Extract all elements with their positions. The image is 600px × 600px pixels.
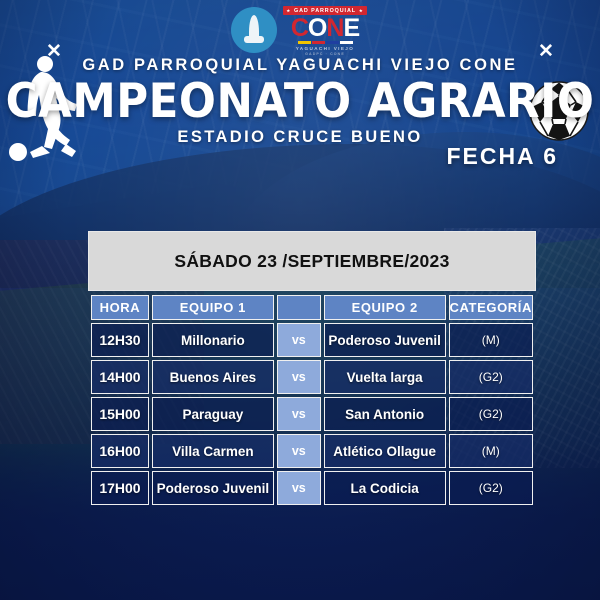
cell-categoria: (G2)	[449, 360, 533, 394]
date-banner: SÁBADO 23 /SEPTIEMBRE/2023	[88, 231, 536, 291]
cell-categoria: (G2)	[449, 471, 533, 505]
cell-vs: vs	[277, 434, 321, 468]
table-row: 17H00 Poderoso Juvenil vs La Codicia (G2…	[91, 471, 533, 505]
cell-categoria: (M)	[449, 323, 533, 357]
poster-header: GAD PARROQUIAL YAGUACHI VIEJO CONE CAMPE…	[0, 56, 600, 147]
table-row: 14H00 Buenos Aires vs Vuelta larga (G2)	[91, 360, 533, 394]
logo-subtitle-secondary: GADPC · CONE	[277, 52, 373, 56]
cell-equipo-1: Poderoso Juvenil	[152, 471, 274, 505]
logo-subtitle: YAGUACHI VIEJO	[277, 46, 373, 51]
column-header-equipo-1: EQUIPO 1	[152, 295, 274, 320]
cell-vs: vs	[277, 360, 321, 394]
fixtures-panel: SÁBADO 23 /SEPTIEMBRE/2023 HORA EQUIPO 1…	[88, 231, 536, 508]
column-header-hora: HORA	[91, 295, 149, 320]
table-row: 15H00 Paraguay vs San Antonio (G2)	[91, 397, 533, 431]
logo-bar-white	[340, 41, 353, 44]
fixture-poster: ★ GAD PARROQUIAL ★ CONE YAGUACHI VIEJO G…	[0, 0, 600, 600]
round-label: FECHA 6	[446, 143, 558, 170]
cell-hora: 15H00	[91, 397, 149, 431]
cell-categoria: (G2)	[449, 397, 533, 431]
logo-bar-blue	[326, 41, 339, 44]
logo-wordmark: CONE	[277, 16, 373, 40]
cell-equipo-1: Buenos Aires	[152, 360, 274, 394]
cell-hora: 14H00	[91, 360, 149, 394]
column-header-vs	[277, 295, 321, 320]
table-header-row: HORA EQUIPO 1 EQUIPO 2 CATEGORÍA	[91, 295, 533, 320]
cell-equipo-2: Vuelta larga	[324, 360, 446, 394]
table-row: 16H00 Villa Carmen vs Atlético Ollague (…	[91, 434, 533, 468]
table-row: 12H30 Millonario vs Poderoso Juvenil (M)	[91, 323, 533, 357]
cell-hora: 17H00	[91, 471, 149, 505]
logo-letter-c: C	[291, 14, 308, 42]
logo-letter-n: N	[326, 14, 343, 42]
logo-wordmark-group: ★ GAD PARROQUIAL ★ CONE YAGUACHI VIEJO G…	[277, 6, 373, 56]
cell-equipo-2: San Antonio	[324, 397, 446, 431]
cell-equipo-2: Atlético Ollague	[324, 434, 446, 468]
logo-top-banner-label: GAD PARROQUIAL	[294, 8, 356, 14]
cell-hora: 12H30	[91, 323, 149, 357]
cell-hora: 16H00	[91, 434, 149, 468]
fixtures-table: HORA EQUIPO 1 EQUIPO 2 CATEGORÍA 12H30 M…	[88, 292, 536, 508]
tower-monument-icon	[249, 15, 259, 43]
logo-letter-o: O	[308, 14, 326, 42]
cell-categoria: (M)	[449, 434, 533, 468]
logo-bar-red	[312, 41, 325, 44]
fixtures-table-body: 12H30 Millonario vs Poderoso Juvenil (M)…	[91, 323, 533, 505]
header-kicker: GAD PARROQUIAL YAGUACHI VIEJO CONE	[0, 56, 600, 75]
cone-logo: ★ GAD PARROQUIAL ★ CONE YAGUACHI VIEJO G…	[225, 4, 375, 56]
cell-equipo-1: Villa Carmen	[152, 434, 274, 468]
column-header-categoria: CATEGORÍA	[449, 295, 533, 320]
cell-vs: vs	[277, 323, 321, 357]
logo-letter-e: E	[343, 14, 359, 42]
cell-equipo-1: Paraguay	[152, 397, 274, 431]
page-title: CAMPEONATO AGRARIO	[0, 77, 600, 127]
star-icon-left: ★	[287, 8, 292, 13]
cell-equipo-2: La Codicia	[324, 471, 446, 505]
logo-bar-yellow	[298, 41, 311, 44]
star-icon-right: ★	[359, 8, 364, 13]
column-header-equipo-2: EQUIPO 2	[324, 295, 446, 320]
cell-equipo-2: Poderoso Juvenil	[324, 323, 446, 357]
cell-vs: vs	[277, 471, 321, 505]
cell-vs: vs	[277, 397, 321, 431]
cell-equipo-1: Millonario	[152, 323, 274, 357]
